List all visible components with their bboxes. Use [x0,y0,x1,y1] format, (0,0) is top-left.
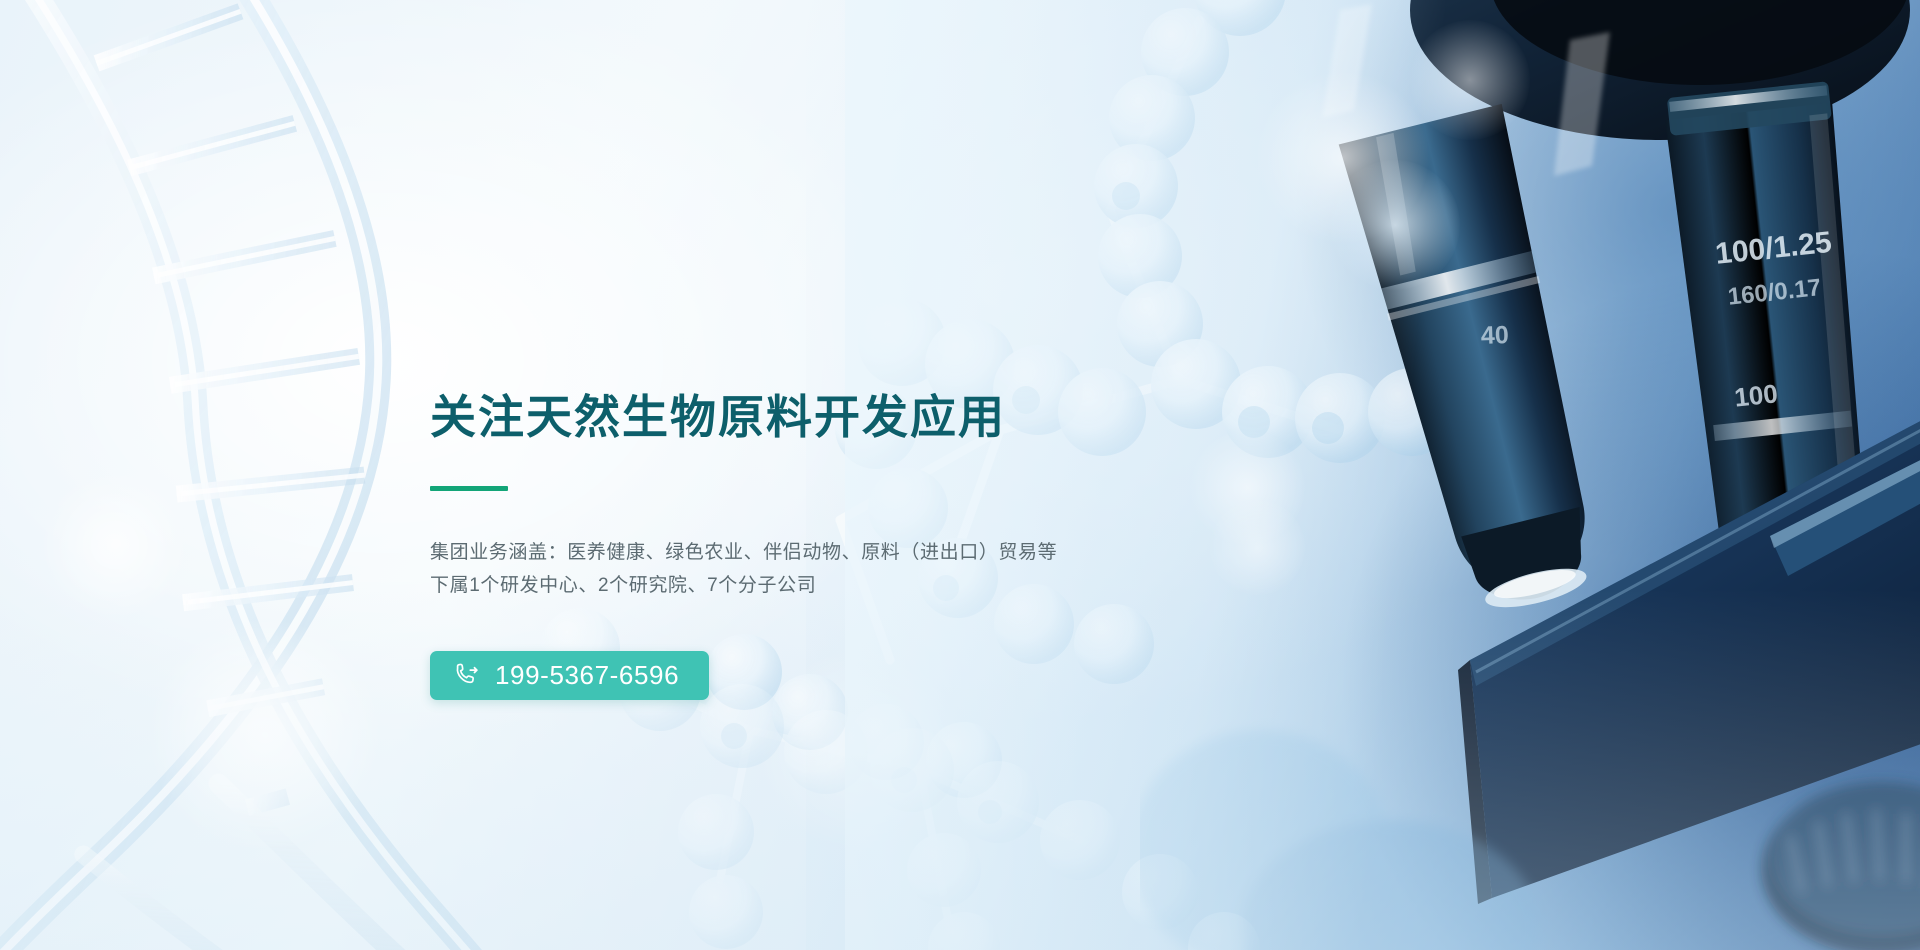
description-line-1: 集团业务涵盖：医养健康、绿色农业、伴侣动物、原料（进出口）贸易等 [430,537,1430,570]
description-line-2: 下属1个研发中心、2个研究院、7个分子公司 [430,570,1430,603]
hero-description: 集团业务涵盖：医养健康、绿色农业、伴侣动物、原料（进出口）贸易等 下属1个研发中… [430,537,1430,602]
phone-cta-button[interactable]: 199-5367-6596 [430,651,709,700]
svg-text:40: 40 [1480,321,1509,350]
phone-forward-icon [454,662,481,689]
hero-banner: 40 100/1.25 160/0.17 100 [0,0,1920,950]
accent-divider [430,486,508,491]
svg-text:100: 100 [1733,378,1779,412]
phone-number-label: 199-5367-6596 [495,662,679,688]
hero-content: 关注天然生物原料开发应用 集团业务涵盖：医养健康、绿色农业、伴侣动物、原料（进出… [430,390,1430,700]
page-title: 关注天然生物原料开发应用 [430,390,1430,444]
